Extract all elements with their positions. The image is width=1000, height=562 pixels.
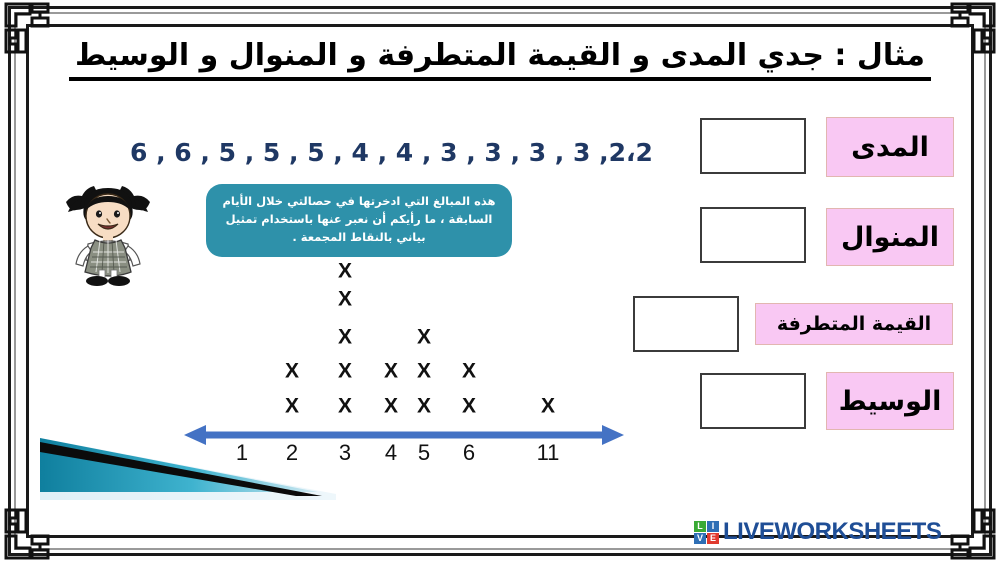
page-title: مثال : جدي المدى و القيمة المتطرفة و الم… [60,38,940,81]
decorative-wedge [36,428,336,500]
answer-label-3: القيمة المتطرفة [755,303,953,345]
answer-input-2[interactable] [700,207,806,263]
logo-tile-l: L [694,521,706,532]
liveworksheets-wordmark: LIVEWORKSHEETS [723,518,941,546]
answer-input-1[interactable] [700,118,806,174]
answer-label-2: المنوال [826,208,954,266]
logo-tile-e: E [707,533,719,544]
liveworksheets-logo: LIVE LIVEWORKSHEETS [694,518,941,546]
data-sequence: 6 , 6 , 5 , 5 , 5 , 4 , 4 , 3 , 3 , 3 , … [130,138,653,167]
answer-input-4[interactable] [700,373,806,429]
corner-ornament-icon [2,0,62,60]
logo-tile-v: V [694,533,706,544]
answer-label-1: المدى [826,117,954,177]
worksheet-page: مثال : جدي المدى و القيمة المتطرفة و الم… [0,0,1000,562]
answer-label-4: الوسيط [826,372,954,430]
corner-ornament-icon [2,502,62,562]
speech-bubble: هذه المبالغ التي ادخرتها في حصالتي خلال … [206,184,512,257]
cartoon-girl-illustration [48,176,168,288]
answer-input-3[interactable] [633,296,739,352]
liveworksheets-logo-tiles: LIVE [694,521,719,544]
logo-tile-i: I [707,521,719,532]
page-title-text: مثال : جدي المدى و القيمة المتطرفة و الم… [69,38,931,81]
corner-ornament-icon [938,502,998,562]
corner-ornament-icon [938,0,998,60]
